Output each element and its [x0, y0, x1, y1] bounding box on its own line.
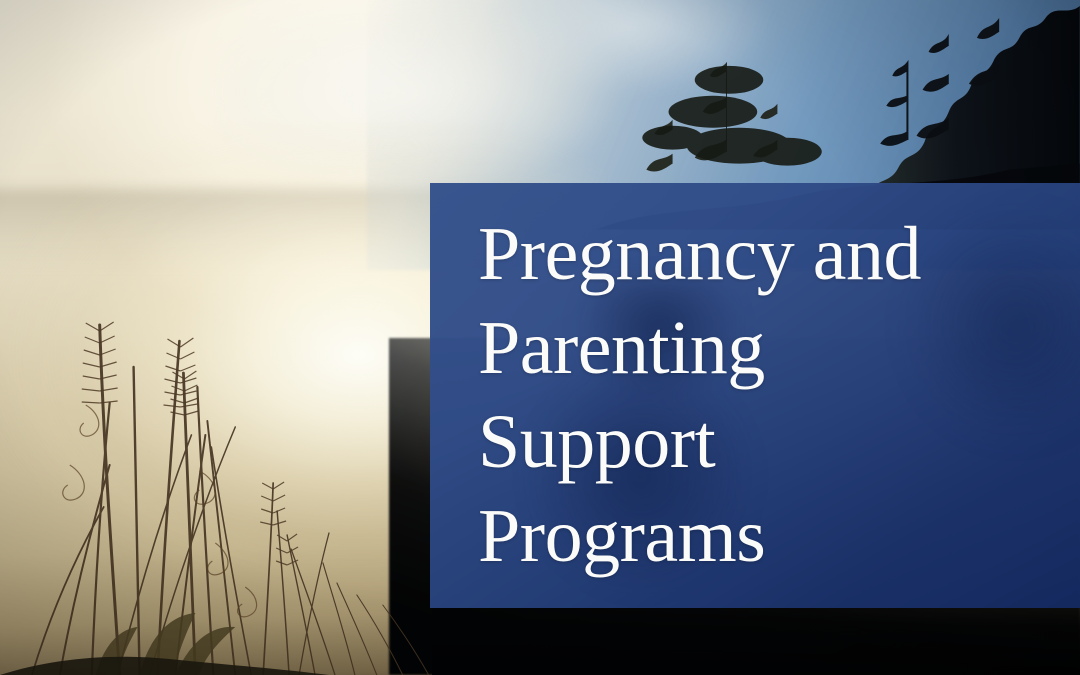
title-line-2: Parenting — [478, 301, 1080, 395]
title-line-4: Programs — [478, 489, 1080, 583]
page-title: Pregnancy and Parenting Support Programs — [430, 183, 1080, 583]
title-line-1: Pregnancy and — [478, 207, 1080, 301]
title-line-3: Support — [478, 395, 1080, 489]
title-card: Pregnancy and Parenting Support Programs — [0, 0, 1080, 675]
title-panel: Pregnancy and Parenting Support Programs — [430, 183, 1080, 608]
